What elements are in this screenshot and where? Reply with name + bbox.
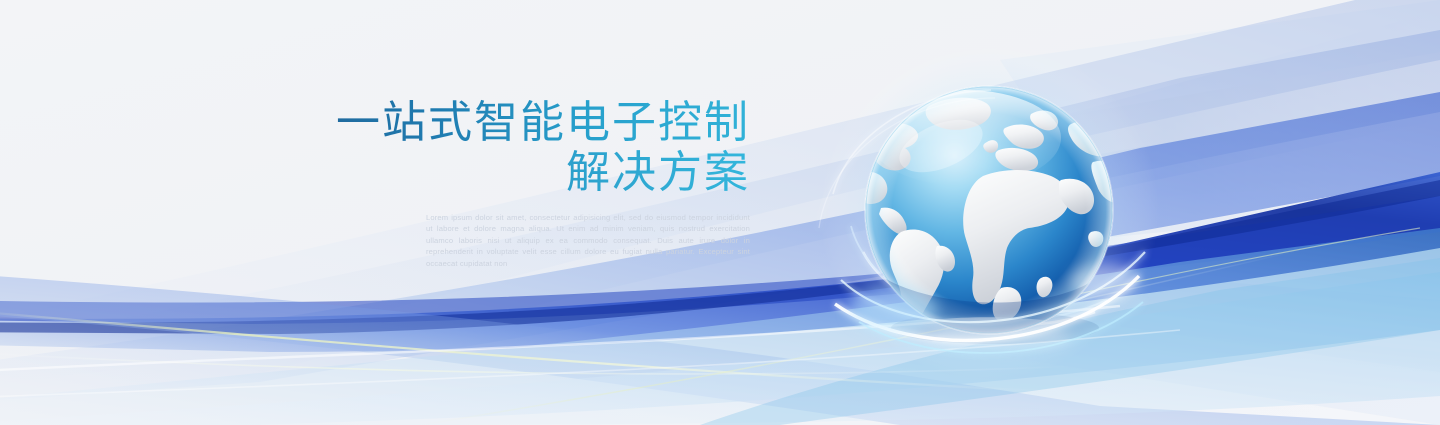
hero-banner: 一站式智能电子控制 解决方案 Lorem ipsum dolor sit ame… [0,0,1440,425]
headline-line-1: 一站式智能电子控制 [0,98,750,148]
body-paragraph: Lorem ipsum dolor sit amet, consectetur … [426,212,750,269]
headline-block: 一站式智能电子控制 解决方案 Lorem ipsum dolor sit ame… [0,98,750,269]
headline-line-2: 解决方案 [0,148,750,198]
globe-graphic [855,76,1123,344]
